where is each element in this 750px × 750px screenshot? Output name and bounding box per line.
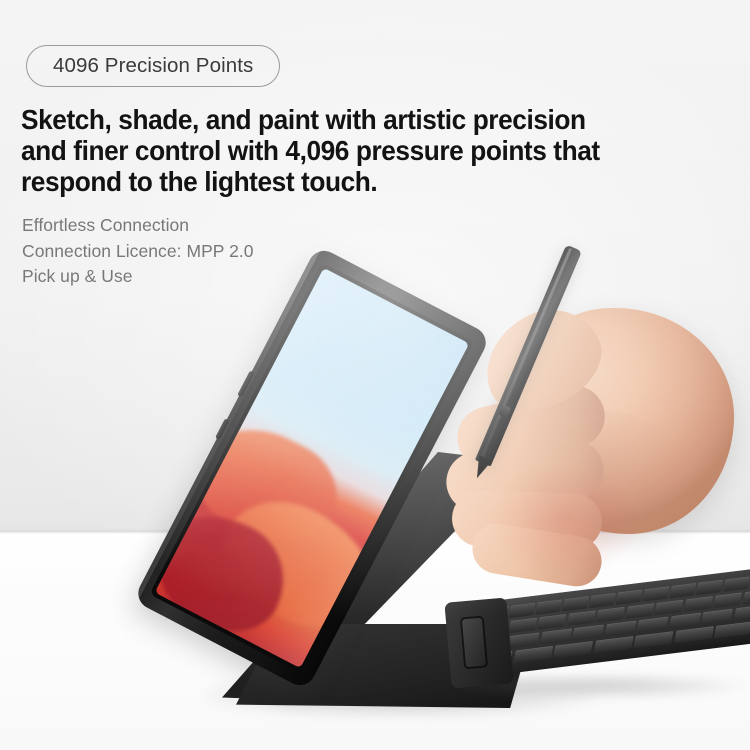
feature-list: Effortless Connection Connection Licence… [22, 213, 442, 290]
background-seam [0, 529, 750, 534]
feature-badge-label: 4096 Precision Points [53, 54, 253, 78]
feature-list-item: Effortless Connection [22, 213, 442, 239]
feature-list-item: Pick up & Use [22, 264, 442, 290]
headline-line: respond to the lightest touch. [21, 166, 680, 197]
headline-line: Sketch, shade, and paint with artistic p… [21, 104, 680, 135]
background-table [0, 532, 750, 750]
product-feature-banner: 4096 Precision Points Sketch, shade, and… [0, 0, 750, 750]
headline: Sketch, shade, and paint with artistic p… [21, 104, 680, 197]
feature-badge: 4096 Precision Points [26, 45, 280, 87]
headline-line: and finer control with 4,096 pressure po… [21, 135, 680, 166]
feature-list-item: Connection Licence: MPP 2.0 [22, 239, 442, 265]
